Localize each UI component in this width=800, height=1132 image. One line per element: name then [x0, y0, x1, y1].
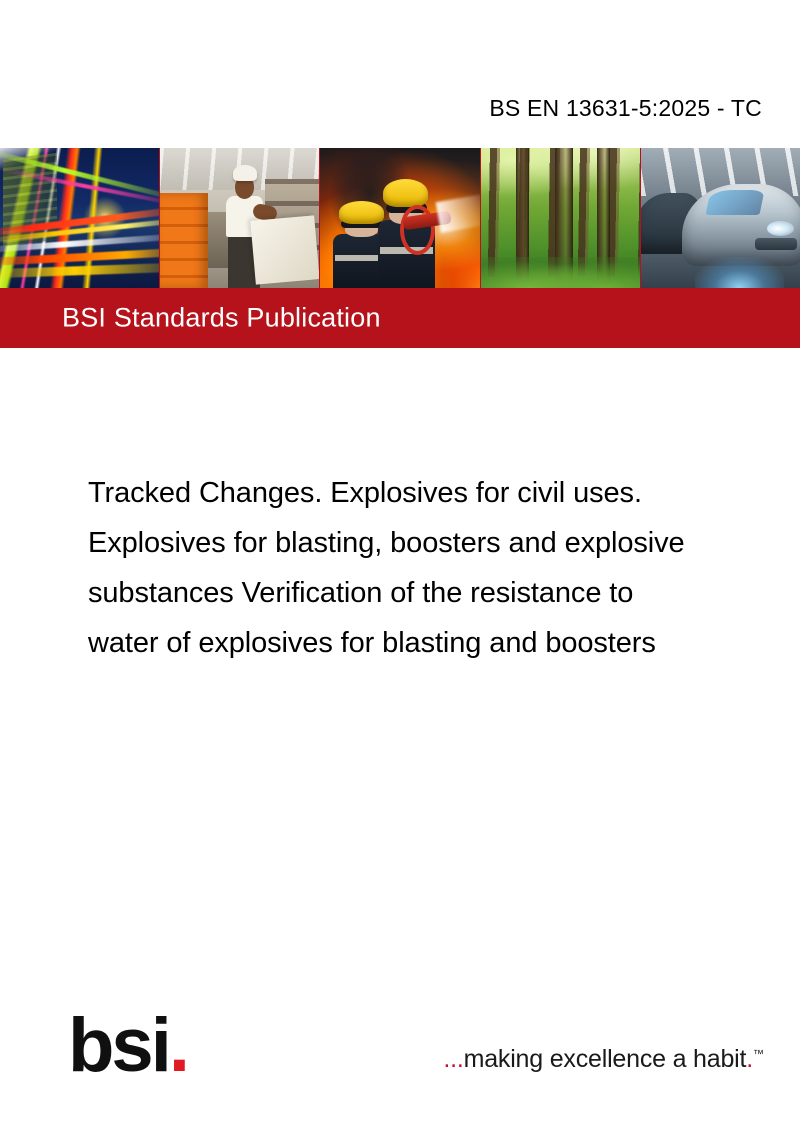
bsi-logo: bsi.: [68, 1008, 187, 1084]
light-trail: [0, 262, 160, 278]
orange-crate-stack: [160, 193, 208, 288]
warehouse-worker-image: [160, 148, 320, 288]
cardboard-box: [250, 215, 319, 285]
forest-art: [481, 148, 640, 288]
fire-art: [320, 148, 479, 288]
traffic-art: [0, 148, 159, 288]
tagline-text: making excellence a habit: [464, 1045, 747, 1073]
car-headlamp: [767, 221, 794, 236]
bsi-logo-text: bsi: [68, 1003, 169, 1088]
trademark-icon: ™: [753, 1049, 764, 1061]
cover-banner: BSI Standards Publication: [0, 148, 800, 348]
page-title: Tracked Changes. Explosives for civil us…: [88, 468, 688, 668]
tagline-ellipsis: ...: [443, 1045, 463, 1073]
car-windshield: [705, 190, 764, 215]
worker-cap: [233, 165, 257, 181]
water-spray: [436, 194, 481, 233]
forest-undergrowth: [481, 257, 640, 288]
traffic-light-trails-image: [0, 148, 160, 288]
assembly-line-art: [641, 148, 800, 288]
car-assembly-line-image: [641, 148, 800, 288]
document-cover-page: { "header": { "doc_reference": "BS EN 13…: [0, 0, 800, 1132]
forest-image: [481, 148, 641, 288]
document-reference: BS EN 13631-5:2025 - TC: [489, 95, 762, 122]
tagline-period: .: [746, 1045, 753, 1073]
yellow-helmet: [383, 179, 428, 207]
banner-red-band: BSI Standards Publication: [0, 288, 800, 348]
banner-image-strip: [0, 148, 800, 288]
car-grille: [755, 238, 796, 251]
warehouse-art: [160, 148, 319, 288]
firefighters-image: [320, 148, 480, 288]
bsi-logo-dot: .: [169, 1003, 187, 1088]
floor-light-glow: [695, 257, 784, 288]
banner-title: BSI Standards Publication: [62, 303, 381, 334]
bsi-tagline: ...making excellence a habit.™: [443, 1045, 764, 1074]
